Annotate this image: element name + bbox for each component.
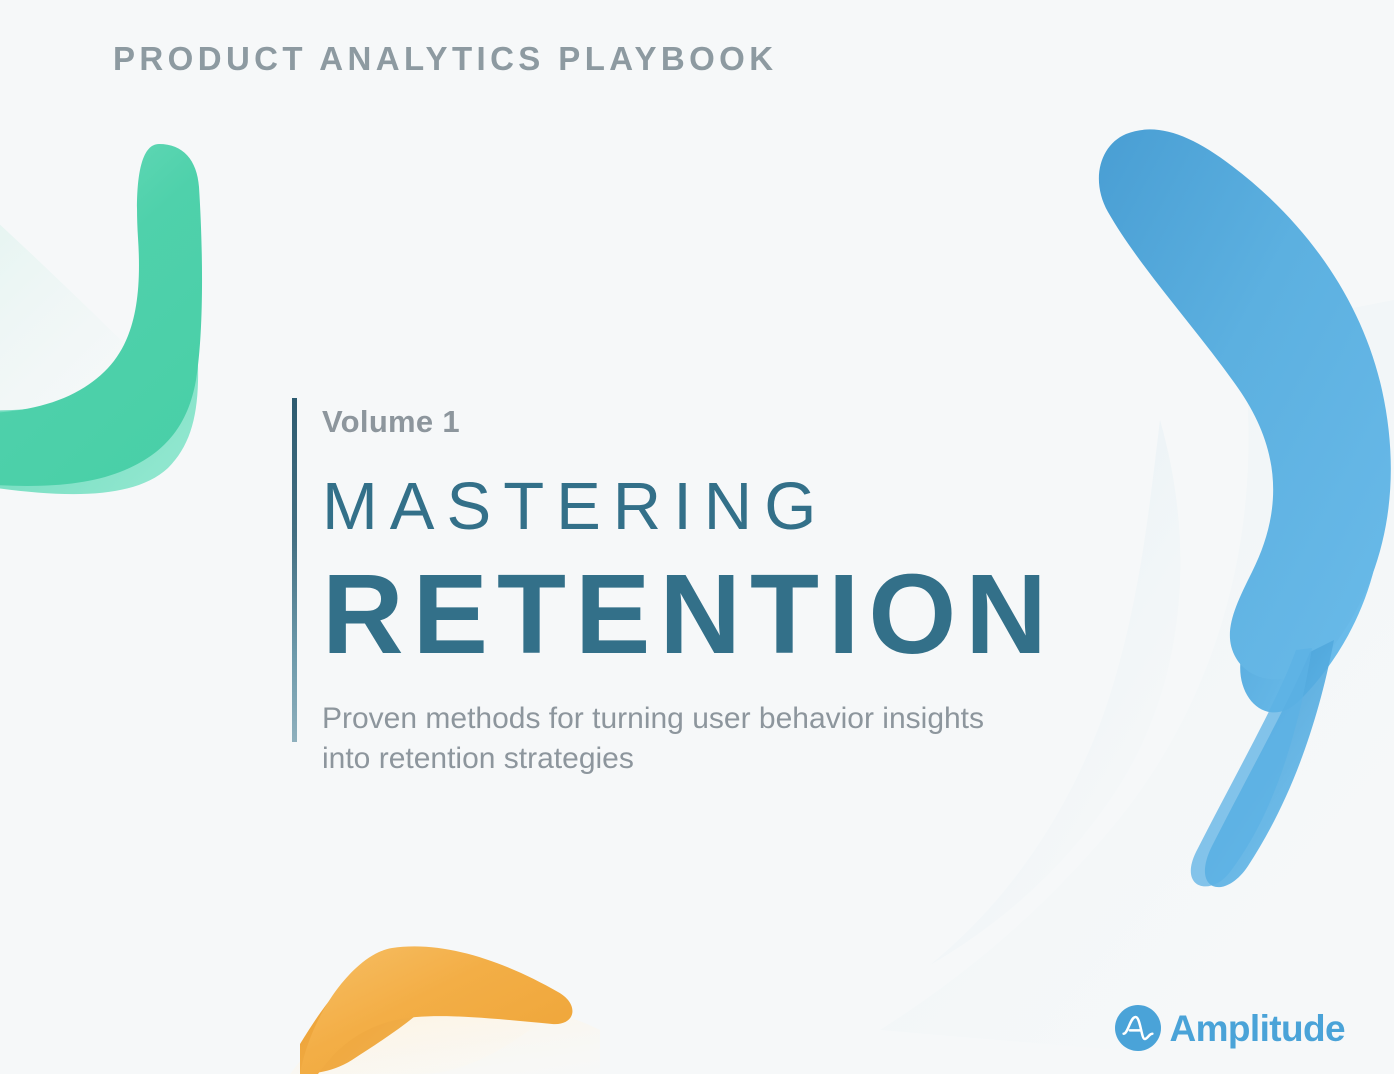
blue-boomerang-upper-wing <box>1099 129 1391 679</box>
green-boomerang-echo <box>0 170 178 452</box>
blue-boomerang-lower-wing <box>1240 320 1382 712</box>
orange-boomerang-echo-wide <box>300 999 600 1074</box>
orange-boomerang-echo <box>290 991 560 1074</box>
orange-boomerang-lower-wing <box>300 987 440 1074</box>
volume-label: Volume 1 <box>322 398 1052 437</box>
blue-boomerang-tail <box>1205 640 1334 887</box>
amplitude-circle-icon <box>1115 1005 1161 1051</box>
green-boomerang-group <box>0 144 202 494</box>
title-block: Volume 1 MASTERING RETENTION Proven meth… <box>292 398 1052 779</box>
cover-page: PRODUCT ANALYTICS PLAYBOOK Volume 1 MAST… <box>0 0 1394 1074</box>
green-boomerang-upper-wing <box>0 144 202 486</box>
page-subtitle: Proven methods for turning user behavior… <box>322 699 1022 779</box>
orange-boomerang-upper-wing <box>300 946 572 1074</box>
green-boomerang-lower-wing <box>0 330 198 494</box>
blue-boomerang-tail-lower <box>1191 648 1312 886</box>
title-line-1: MASTERING <box>322 473 1052 540</box>
amplitude-logo: Amplitude <box>1115 1005 1345 1051</box>
title-accent-rule <box>292 398 297 742</box>
page-kicker: PRODUCT ANALYTICS PLAYBOOK <box>113 40 777 78</box>
orange-boomerang-group <box>290 946 600 1074</box>
amplitude-wordmark: Amplitude <box>1170 1010 1345 1047</box>
title-line-2: RETENTION <box>322 558 1052 671</box>
